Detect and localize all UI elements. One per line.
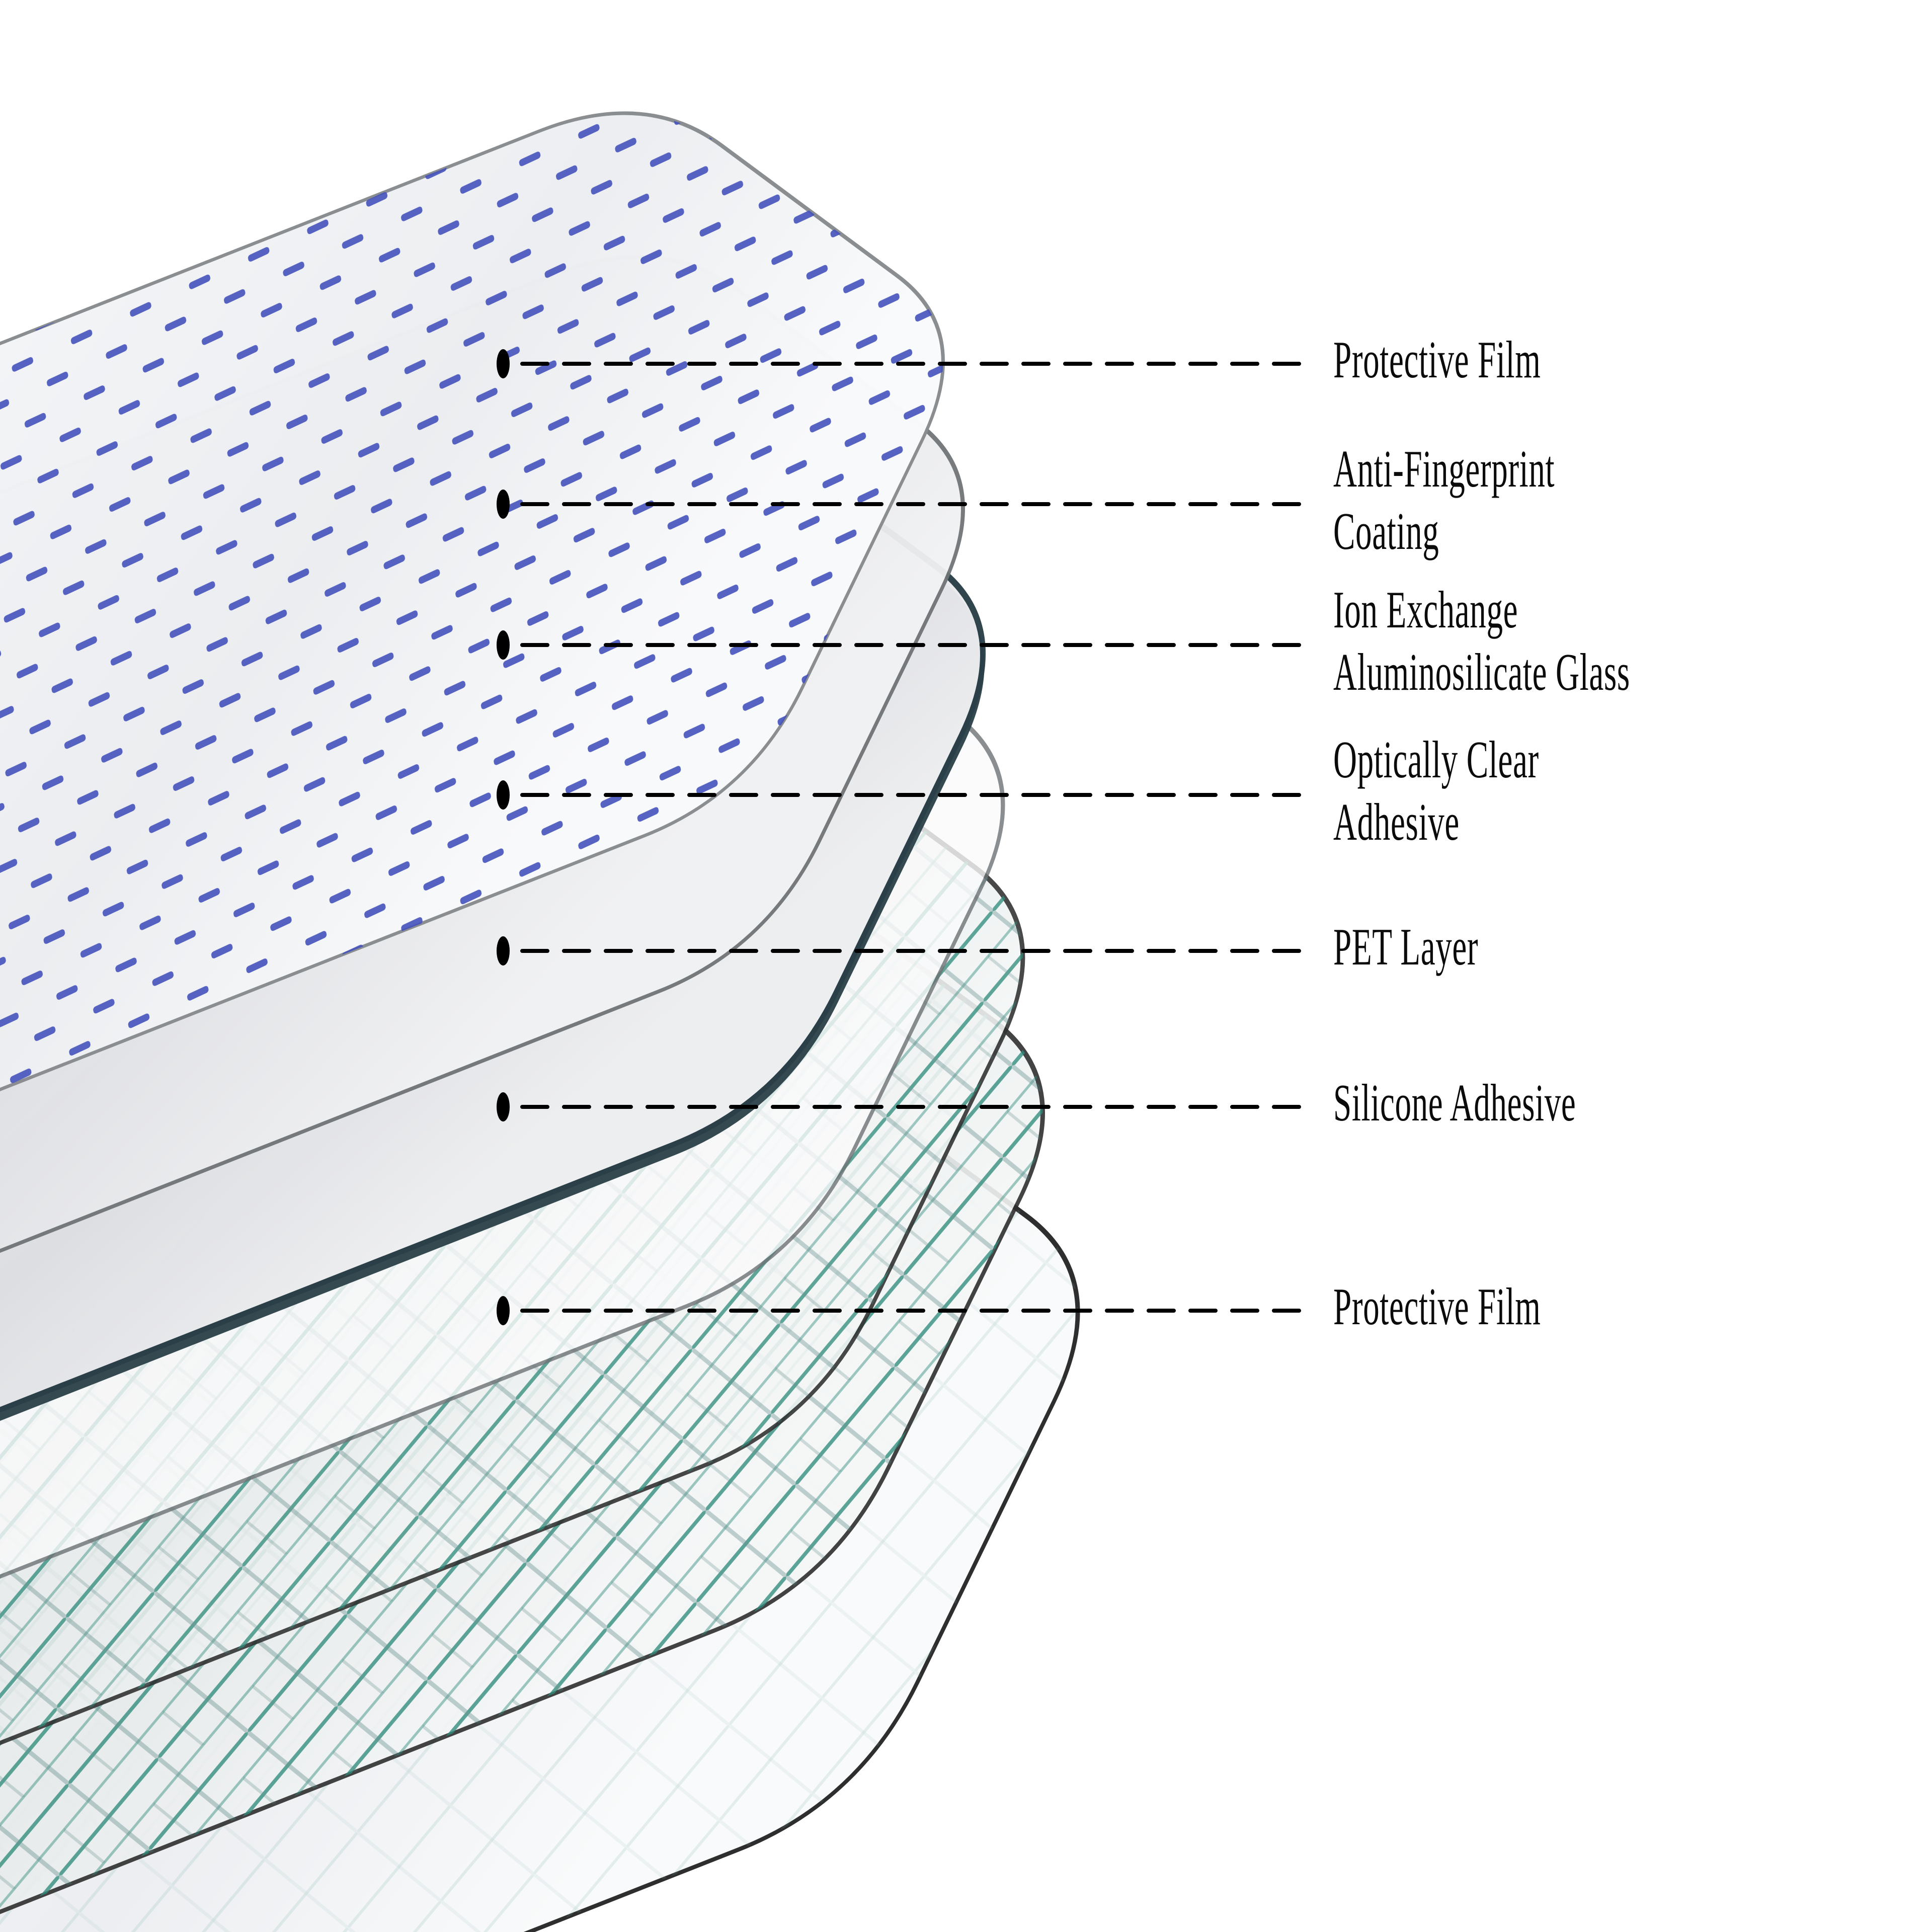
- layer-label-line: Silicone Adhesive: [1333, 1072, 1576, 1134]
- layer-label-line: Ion Exchange: [1333, 579, 1630, 641]
- exploded-layer-stack-illustration: [0, 0, 1932, 1932]
- diagram-canvas: Protective FilmAnti-FingerprintCoatingIo…: [0, 0, 1932, 1932]
- layer-label-7: Protective Film: [1333, 1275, 1541, 1338]
- layer-label-line: Aluminosilicate Glass: [1333, 641, 1630, 703]
- leader-dot-2: [497, 490, 510, 519]
- layer-label-2: Anti-FingerprintCoating: [1333, 438, 1555, 562]
- layer-label-line: Protective Film: [1333, 1275, 1541, 1338]
- layer-label-line: Anti-Fingerprint: [1333, 438, 1555, 500]
- leader-dot-4: [497, 780, 510, 810]
- layer-label-1: Protective Film: [1333, 329, 1541, 391]
- leader-dot-5: [497, 936, 510, 965]
- leader-dot-6: [497, 1092, 510, 1121]
- layer-label-6: Silicone Adhesive: [1333, 1072, 1576, 1134]
- leader-dot-1: [497, 349, 510, 378]
- layer-label-5: PET Layer: [1333, 916, 1478, 978]
- layer-label-line: PET Layer: [1333, 916, 1478, 978]
- layer-label-4: Optically ClearAdhesive: [1333, 729, 1539, 853]
- leader-dot-7: [497, 1296, 510, 1325]
- layer-label-line: Coating: [1333, 500, 1555, 562]
- layer-label-line: Adhesive: [1333, 791, 1539, 853]
- layer-label-3: Ion ExchangeAluminosilicate Glass: [1333, 579, 1630, 703]
- layer-label-line: Protective Film: [1333, 329, 1541, 391]
- leader-dot-3: [497, 630, 510, 660]
- layer-label-line: Optically Clear: [1333, 729, 1539, 791]
